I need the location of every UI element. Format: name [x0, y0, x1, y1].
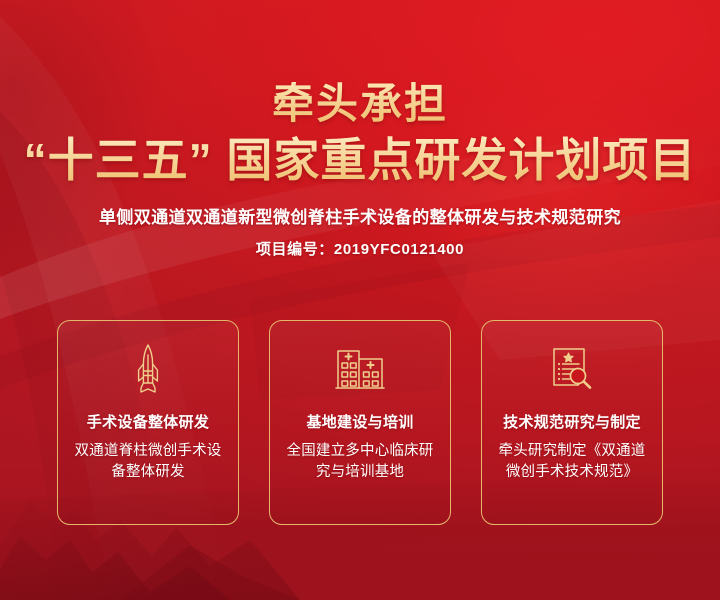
rocket-icon: [132, 343, 164, 395]
card-description: 牵头研究制定《双通道微创手术技术规范》: [492, 441, 652, 484]
card-title: 手术设备整体研发: [87, 411, 209, 432]
card-item[interactable]: 手术设备整体研发 双通道脊柱微创手术设备整体研发: [57, 320, 239, 525]
card-list: 手术设备整体研发 双通道脊柱微创手术设备整体研发: [57, 320, 663, 525]
document-magnifier-icon: [548, 343, 596, 395]
project-number: 项目编号：2019YFC0121400: [0, 238, 720, 259]
hospital-building-icon: [335, 343, 385, 395]
card-title: 基地建设与培训: [306, 411, 413, 432]
card-item[interactable]: 技术规范研究与制定 牵头研究制定《双通道微创手术技术规范》: [481, 320, 663, 525]
card-description: 全国建立多中心临床研究与培训基地: [280, 441, 440, 484]
poster-header: 牵头承担 “十三五” 国家重点研发计划项目 单侧双通道双通道新型微创脊柱手术设备…: [0, 0, 720, 259]
poster-banner: 牵头承担 “十三五” 国家重点研发计划项目 单侧双通道双通道新型微创脊柱手术设备…: [0, 0, 720, 600]
card-description: 双通道脊柱微创手术设备整体研发: [68, 441, 228, 484]
poster-subtitle: 单侧双通道双通道新型微创脊柱手术设备的整体研发与技术规范研究: [0, 203, 720, 228]
page-title-line2: “十三五” 国家重点研发计划项目: [0, 135, 720, 186]
card-item[interactable]: 基地建设与培训 全国建立多中心临床研究与培训基地: [269, 320, 451, 525]
card-title: 技术规范研究与制定: [503, 411, 641, 432]
page-title-line1: 牵头承担: [0, 82, 720, 127]
